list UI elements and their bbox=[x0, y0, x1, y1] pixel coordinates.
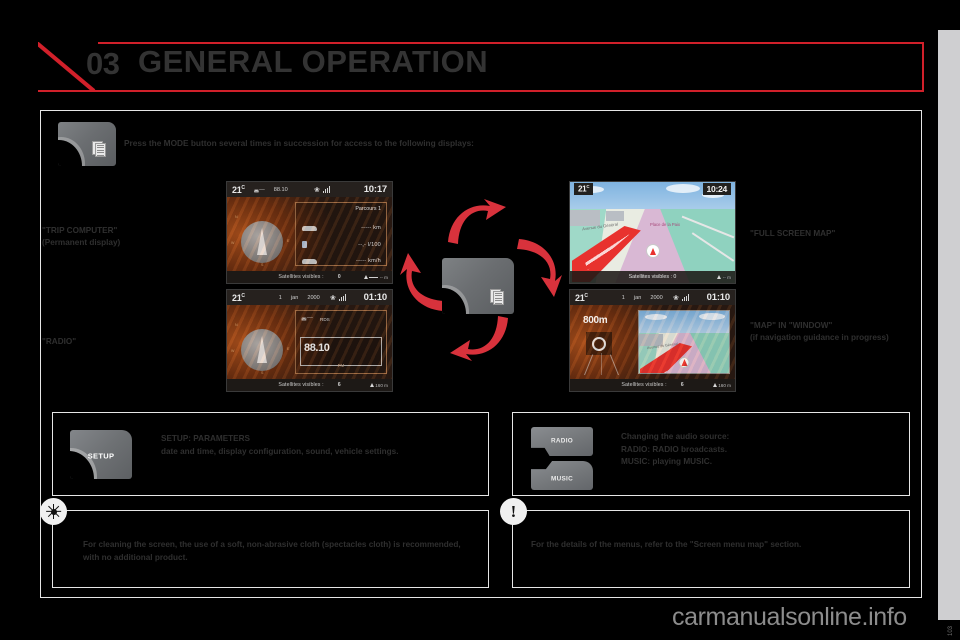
map-scale: -- m bbox=[364, 275, 388, 280]
outside-temperature: 21C bbox=[232, 293, 245, 303]
map-scale: 160 m bbox=[370, 383, 388, 388]
trip-row: ----- km bbox=[302, 225, 381, 231]
date-day: 1 bbox=[622, 295, 625, 301]
header-rule-bottom bbox=[38, 90, 924, 92]
setup-button-illustration: SETUP bbox=[70, 430, 132, 479]
info-box-audio-source: RADIO MUSIC Changing the audio source: R… bbox=[512, 412, 910, 496]
audio-line-2: RADIO: RADIO broadcasts. bbox=[621, 444, 901, 457]
map-window: Avenue du Général bbox=[638, 310, 730, 374]
compass-icon bbox=[241, 221, 283, 263]
watermark: carmanualsonline.info bbox=[672, 603, 907, 632]
page-title: GENERAL OPERATION bbox=[138, 44, 488, 80]
trip-row-value: --,- l/100 bbox=[358, 242, 381, 248]
scale-triangle-icon bbox=[717, 275, 721, 279]
music-button-illustration: MUSIC bbox=[531, 461, 593, 490]
info-box-setup: SETUP SETUP: PARAMETERS date and time, d… bbox=[52, 412, 489, 496]
mode-pages-icon bbox=[490, 289, 505, 306]
radio-button-label: RADIO bbox=[551, 437, 573, 444]
compass-label-e: E bbox=[287, 239, 289, 243]
screen-footer: Satellites visibles : 6 160 m bbox=[227, 379, 392, 391]
map-street-label: Avenue du Général bbox=[647, 342, 678, 350]
scale-triangle-icon bbox=[370, 383, 374, 387]
screen-footer: Satellites visibles : 6 160 m bbox=[570, 379, 735, 391]
status-bar: 21C 1 jan 2000 ❀ 01:10 bbox=[227, 290, 392, 305]
map-street-label: Place de la Paix bbox=[650, 222, 680, 227]
warning-exclamation-icon: ! bbox=[500, 498, 527, 525]
satellites-label: Satellites visibles : bbox=[278, 274, 323, 280]
radio-frequency-box: 88.10 bbox=[300, 337, 382, 366]
mode-button-illustration bbox=[58, 122, 116, 166]
map-green-area bbox=[639, 333, 659, 373]
bluetooth-icon: ❀ bbox=[673, 294, 679, 302]
satellites-value: 6 bbox=[338, 382, 341, 388]
vehicle-position-marker bbox=[646, 244, 660, 258]
clock: 10:17 bbox=[364, 184, 387, 195]
compass-label-n: N bbox=[235, 215, 238, 219]
compass-label-w: W bbox=[231, 241, 234, 245]
map-3d-view: Avenue du Général Place de la Paix 50m 2… bbox=[570, 182, 735, 283]
caption-full-screen-map: "FULL SCREEN MAP" bbox=[750, 228, 920, 240]
screenshot-map-in-window: 21C 1 jan 2000 ❀ 01:10 800m bbox=[569, 289, 736, 392]
screen-footer: Satellites visibles : 0 -- m bbox=[570, 271, 735, 283]
setup-button-label: SETUP bbox=[88, 452, 115, 461]
cleaning-text: For cleaning the screen, the use of a so… bbox=[83, 539, 475, 564]
car-icon bbox=[302, 226, 317, 231]
date-month: jan bbox=[291, 295, 298, 301]
signal-bars-icon bbox=[339, 294, 347, 300]
guidance-icon-box bbox=[586, 332, 612, 355]
scale-triangle-icon bbox=[713, 383, 717, 387]
screen-body: N E W S Parcours 1 ----- km --,- l/100 -… bbox=[227, 197, 392, 271]
intro-text: Press the MODE button several times in s… bbox=[124, 138, 474, 148]
scale-triangle-icon bbox=[364, 275, 368, 279]
satellites-value: 6 bbox=[681, 382, 684, 388]
trip-panel-title: Parcours 1 bbox=[355, 206, 381, 212]
signal-bars-icon bbox=[323, 186, 331, 192]
satellites-value: 0 bbox=[338, 274, 341, 280]
intro-row: Press the MODE button several times in s… bbox=[58, 122, 678, 174]
map-ground bbox=[639, 333, 729, 373]
guidance-distance: 800m bbox=[583, 315, 607, 326]
cycle-arrow-right-icon bbox=[515, 237, 563, 299]
trip-row-value: ----- km/h bbox=[356, 258, 381, 264]
clock: 01:10 bbox=[707, 292, 730, 303]
header-right-cap bbox=[922, 42, 924, 92]
radio-frequency: 88.10 bbox=[304, 342, 330, 354]
date-day: 1 bbox=[279, 295, 282, 301]
manual-page: 03 GENERAL OPERATION Press the MODE butt… bbox=[0, 0, 960, 640]
setup-heading: SETUP: PARAMETERS bbox=[161, 433, 479, 446]
fuel-pump-icon bbox=[302, 241, 307, 248]
map-route-highlight bbox=[640, 343, 702, 373]
audio-line-1: Changing the audio source: bbox=[621, 431, 901, 444]
screenshot-radio: 21C 1 jan 2000 ❀ 01:10 N E W S ◛— RDS 88… bbox=[226, 289, 393, 392]
bluetooth-icon: ❀ bbox=[314, 186, 320, 194]
trip-row: ----- km/h bbox=[302, 258, 381, 264]
caption-trip-computer: "TRIP COMPUTER" (Permanent display) bbox=[42, 225, 222, 249]
radio-band-label: FM bbox=[338, 363, 345, 368]
mode-button-center-illustration bbox=[442, 258, 514, 314]
caption-radio: "RADIO" bbox=[42, 336, 222, 348]
compass-label-s: S bbox=[261, 371, 263, 375]
compass-label-n: N bbox=[235, 323, 238, 327]
caption-map-in-window: "MAP" IN "WINDOW" (if navigation guidanc… bbox=[750, 320, 925, 344]
chapter-number: 03 bbox=[86, 46, 119, 82]
compass-icon bbox=[241, 329, 283, 371]
date-year: 2000 bbox=[307, 295, 319, 301]
signal-bars-icon bbox=[682, 294, 690, 300]
info-box-cleaning: For cleaning the screen, the use of a so… bbox=[52, 510, 489, 588]
roundabout-icon bbox=[592, 337, 606, 351]
screen-body: 800m Avenue du Général bbox=[570, 305, 735, 379]
setup-body: date and time, display configuration, so… bbox=[161, 446, 479, 459]
satellites-label: Satellites visibles : bbox=[278, 382, 323, 388]
compass-label-e: E bbox=[287, 347, 289, 351]
caption-map-in-window-sub: (if navigation guidance in progress) bbox=[750, 332, 925, 344]
music-button-label: MUSIC bbox=[551, 475, 573, 482]
audio-box-text: Changing the audio source: RADIO: RADIO … bbox=[621, 431, 901, 469]
clock: 01:10 bbox=[364, 292, 387, 303]
audio-line-3: MUSIC: playing MUSIC. bbox=[621, 456, 901, 469]
outside-temperature: 21C bbox=[575, 293, 588, 303]
setup-box-text: SETUP: PARAMETERS date and time, display… bbox=[161, 433, 479, 458]
map-scale: 160 m bbox=[713, 383, 731, 388]
radio-panel: ◛— RDS 88.10 FM bbox=[295, 310, 387, 374]
lane-guidance-icon bbox=[580, 351, 624, 375]
audio-source-icon: ◛— bbox=[254, 187, 265, 193]
radio-frequency-status: 88.10 bbox=[274, 187, 288, 193]
compass-label-s: S bbox=[261, 263, 263, 267]
outside-temperature: 21C bbox=[232, 185, 245, 195]
cycle-arrows-diagram bbox=[396, 196, 568, 378]
trip-row: --,- l/100 bbox=[302, 241, 381, 248]
caption-full-screen-map-title: "FULL SCREEN MAP" bbox=[750, 228, 920, 240]
cycle-arrow-bottom-icon bbox=[448, 314, 510, 362]
sun-brightness-icon bbox=[40, 498, 67, 525]
vehicle-position-marker bbox=[679, 357, 690, 368]
trip-computer-panel: Parcours 1 ----- km --,- l/100 ----- km/… bbox=[295, 202, 387, 266]
map-scale: -- m bbox=[717, 275, 731, 280]
satellites-label: Satellites visibles : 0 bbox=[629, 274, 677, 280]
satellites-label: Satellites visibles : bbox=[621, 382, 666, 388]
car-speed-icon bbox=[302, 259, 317, 264]
cycle-arrow-top-icon bbox=[446, 198, 508, 246]
trip-row-value: ----- km bbox=[361, 225, 381, 231]
caption-map-in-window-title: "MAP" IN "WINDOW" bbox=[750, 320, 925, 332]
map-3d-view: Avenue du Général bbox=[639, 311, 729, 373]
info-box-note: ! For the details of the menus, refer to… bbox=[512, 510, 910, 588]
status-bar: 21C 1 jan 2000 ❀ 01:10 bbox=[570, 290, 735, 305]
map-green-area bbox=[686, 333, 729, 373]
radio-button-illustration: RADIO bbox=[531, 427, 593, 456]
caption-radio-title: "RADIO" bbox=[42, 336, 222, 348]
mode-pages-icon bbox=[92, 141, 107, 158]
page-header: 03 GENERAL OPERATION bbox=[38, 42, 924, 96]
screenshot-full-screen-map: Avenue du Général Place de la Paix 50m 2… bbox=[569, 181, 736, 284]
page-edge-strip bbox=[938, 30, 960, 620]
note-text: For the details of the menus, refer to t… bbox=[531, 539, 901, 552]
radio-wave-icon: ◛— bbox=[301, 314, 313, 321]
caption-trip-computer-title: "TRIP COMPUTER" bbox=[42, 225, 222, 237]
date-year: 2000 bbox=[650, 295, 662, 301]
guidance-panel: 800m bbox=[570, 305, 634, 379]
status-bar: 21C ◛— 88.10 ❀ 10:17 bbox=[227, 182, 392, 197]
caption-trip-computer-sub: (Permanent display) bbox=[42, 237, 222, 249]
screen-footer: Satellites visibles : 0 -- m bbox=[227, 271, 392, 283]
screenshot-trip-computer: 21C ◛— 88.10 ❀ 10:17 N E W S Parcours 1 … bbox=[226, 181, 393, 284]
cycle-arrow-left-icon bbox=[399, 251, 447, 313]
screen-body: N E W S ◛— RDS 88.10 FM bbox=[227, 305, 392, 379]
radio-source-label: RDS bbox=[320, 317, 330, 322]
bluetooth-icon: ❀ bbox=[330, 294, 336, 302]
page-number: 103 bbox=[948, 626, 954, 636]
compass-label-w: W bbox=[231, 349, 234, 353]
map-current-road bbox=[646, 333, 722, 373]
date-month: jan bbox=[634, 295, 641, 301]
